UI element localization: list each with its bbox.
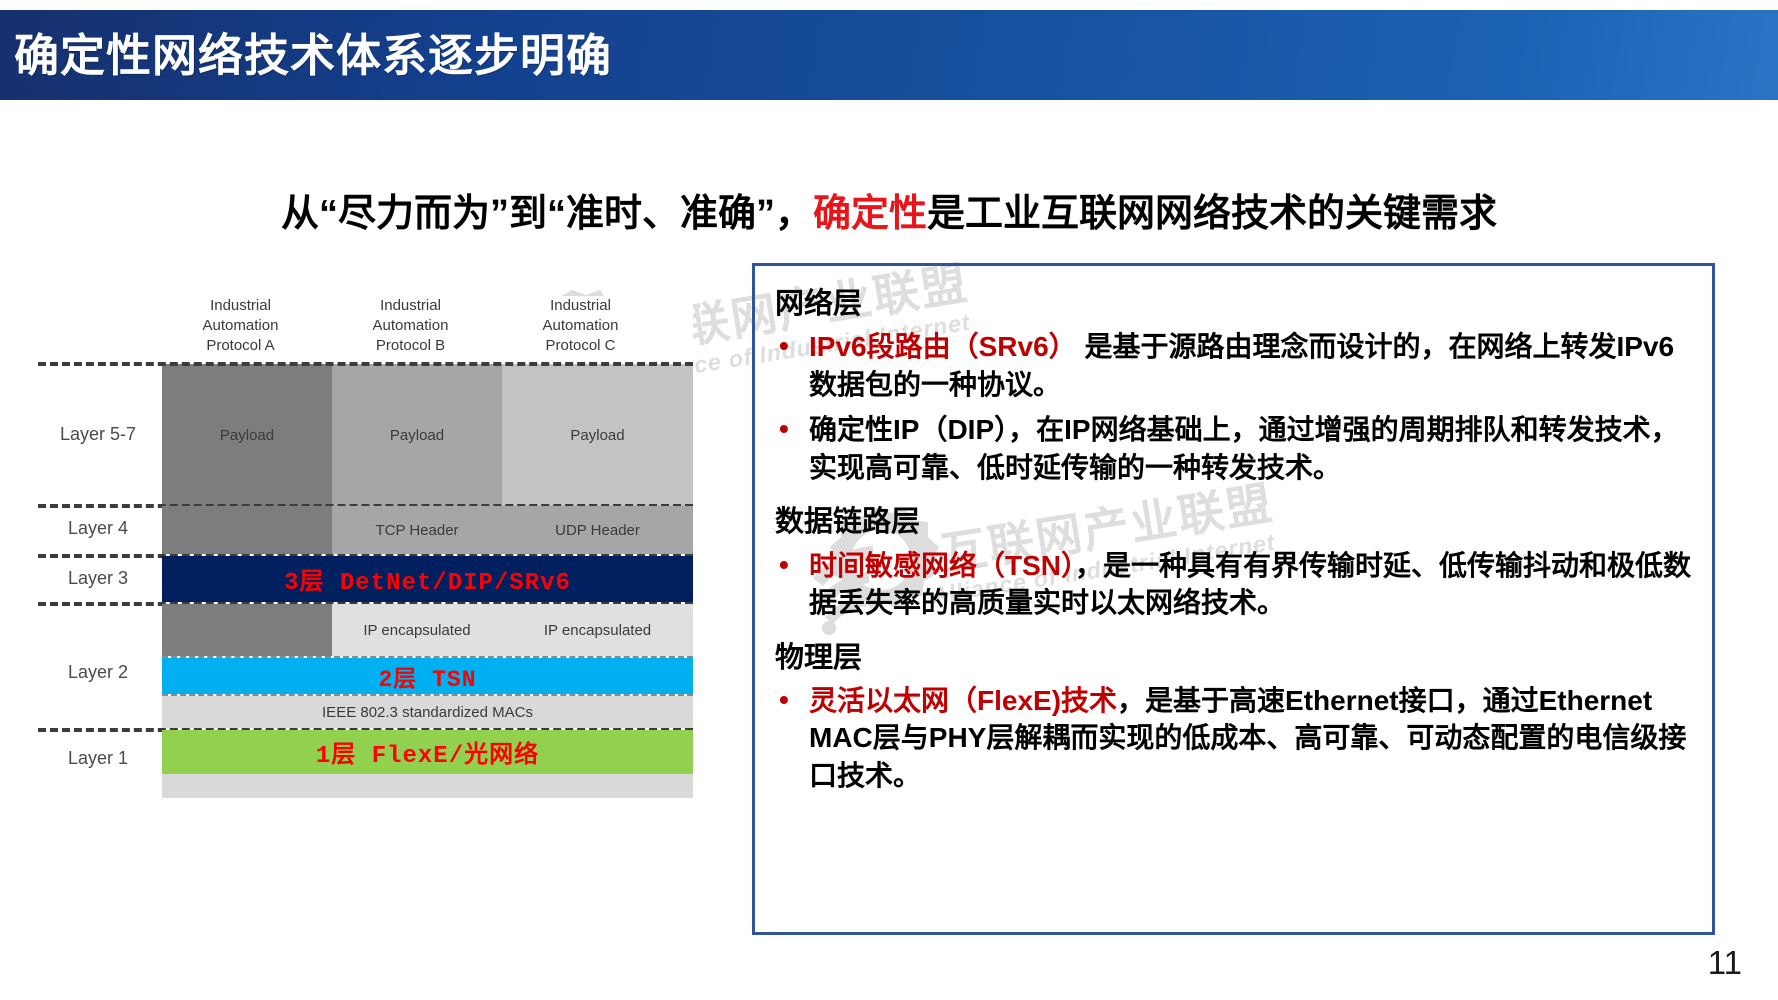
protocol-b-line2: Automation <box>333 316 488 336</box>
payload-cell-c: Payload <box>502 364 693 506</box>
section-heading-data-link-layer: 数据链路层 <box>775 504 1694 540</box>
divider-above-layer57 <box>38 362 693 366</box>
layer-4-text: Layer 4 <box>68 518 128 538</box>
bullet-text: 确定性IP（DIP），在IP网络基础上，通过增强的周期排队和转发技术，实现高可靠… <box>809 411 1694 486</box>
bullet-marker: • <box>773 328 809 365</box>
layer-label-1: Layer 1 <box>38 748 158 769</box>
bullet-marker: • <box>773 682 809 719</box>
bullet-item: • 时间敏感网络（TSN），是一种具有有界传输时延、低传输抖动和极低数据丢失率的… <box>773 547 1694 622</box>
payload-cell-a: Payload <box>162 364 332 506</box>
section-heading-network-layer: 网络层 <box>775 286 1694 322</box>
tcp-header-cell: TCP Header <box>332 506 502 554</box>
protocol-column-header-a: Industrial Automation Protocol A <box>163 296 318 355</box>
subtitle-part-2: 是工业互联网网络技术的关键需求 <box>927 193 1497 235</box>
section-heading-physical-layer: 物理层 <box>775 640 1694 676</box>
layer-5-7-text: Layer 5-7 <box>60 424 136 444</box>
layer2-cell-a <box>162 604 332 656</box>
layer1-bottom-strip <box>162 774 693 798</box>
protocol-c-line2: Automation <box>503 316 658 336</box>
layer1-band-label: 1层 FlexE/光网络 <box>316 734 539 770</box>
protocol-column-header-b: Industrial Automation Protocol B <box>333 296 488 355</box>
ip-encap-c-label: IP encapsulated <box>544 622 651 639</box>
payload-a-label: Payload <box>220 427 274 444</box>
layer4-cell-a <box>162 506 332 554</box>
payload-b-label: Payload <box>390 427 444 444</box>
ip-encapsulated-cell-c: IP encapsulated <box>502 604 693 656</box>
ip-encapsulated-cell-b: IP encapsulated <box>332 604 502 656</box>
payload-cell-b: Payload <box>332 364 502 506</box>
slide-subtitle: 从“尽力而为”到“准时、准确”，确定性是工业互联网网络技术的关键需求 <box>0 182 1778 237</box>
layer2-tsn-band: 2层 TSN <box>162 658 693 694</box>
layer3-detnet-band: 3层 DetNet/DIP/SRv6 <box>162 556 693 602</box>
layer-2-text: Layer 2 <box>68 662 128 682</box>
ieee-mac-row: IEEE 802.3 standardized MACs <box>162 696 693 728</box>
bullet-highlight-term: 灵活以太网（FlexE)技术 <box>809 685 1117 716</box>
layer2-band-label: 2层 TSN <box>378 659 476 693</box>
bullet-marker: • <box>773 547 809 584</box>
protocol-stack-diagram: Industrial Automation Protocol A Industr… <box>38 296 693 748</box>
payload-c-label: Payload <box>570 427 624 444</box>
protocol-c-line3: Protocol C <box>503 336 658 356</box>
bullet-item: • 确定性IP（DIP），在IP网络基础上，通过增强的周期排队和转发技术，实现高… <box>773 411 1694 486</box>
layer1-flexe-band: 1层 FlexE/光网络 <box>162 730 693 774</box>
layer3-band-label: 3层 DetNet/DIP/SRv6 <box>284 561 571 597</box>
ieee-mac-label: IEEE 802.3 standardized MACs <box>322 704 533 721</box>
subtitle-part-1: 从“尽力而为”到“准时、准确”， <box>281 193 813 235</box>
protocol-a-line1: Industrial <box>163 296 318 316</box>
protocol-c-line1: Industrial <box>503 296 658 316</box>
bullet-item: • 灵活以太网（FlexE)技术，是基于高速Ethernet接口，通过Ether… <box>773 682 1694 795</box>
layer-label-3: Layer 3 <box>38 568 158 589</box>
udp-header-label: UDP Header <box>555 522 640 539</box>
bullet-text: IPv6段路由（SRv6） 是基于源路由理念而设计的，在网络上转发IPv6数据包… <box>809 328 1694 403</box>
ip-encap-b-label: IP encapsulated <box>363 622 470 639</box>
technology-description-panel: 网络层 • IPv6段路由（SRv6） 是基于源路由理念而设计的，在网络上转发I… <box>752 263 1715 935</box>
protocol-b-line1: Industrial <box>333 296 488 316</box>
page-title: 确定性网络技术体系逐步明确 <box>14 33 612 78</box>
bullet-marker: • <box>773 411 809 448</box>
page-number: 11 <box>1708 944 1742 982</box>
protocol-column-header-c: Industrial Automation Protocol C <box>503 296 658 355</box>
bullet-text: 时间敏感网络（TSN），是一种具有有界传输时延、低传输抖动和极低数据丢失率的高质… <box>809 547 1694 622</box>
bullet-highlight-term: IPv6段路由（SRv6） <box>809 331 1077 362</box>
tcp-header-label: TCP Header <box>375 522 458 539</box>
layer-label-4: Layer 4 <box>38 518 158 539</box>
protocol-b-line3: Protocol B <box>333 336 488 356</box>
layer-1-text: Layer 1 <box>68 748 128 768</box>
bullet-body-text: 确定性IP（DIP），在IP网络基础上，通过增强的周期排队和转发技术，实现高可靠… <box>809 414 1679 483</box>
udp-header-cell: UDP Header <box>502 506 693 554</box>
bullet-item: • IPv6段路由（SRv6） 是基于源路由理念而设计的，在网络上转发IPv6数… <box>773 328 1694 403</box>
protocol-a-line3: Protocol A <box>163 336 318 356</box>
slide-title-bar: 确定性网络技术体系逐步明确 <box>0 10 1778 100</box>
layer-3-text: Layer 3 <box>68 568 128 588</box>
layer-label-2: Layer 2 <box>38 662 158 683</box>
protocol-a-line2: Automation <box>163 316 318 336</box>
layer-label-5-7: Layer 5-7 <box>38 424 158 445</box>
subtitle-highlight: 确定性 <box>813 193 927 235</box>
bullet-highlight-term: 时间敏感网络（TSN） <box>809 550 1075 581</box>
bullet-text: 灵活以太网（FlexE)技术，是基于高速Ethernet接口，通过Etherne… <box>809 682 1694 795</box>
